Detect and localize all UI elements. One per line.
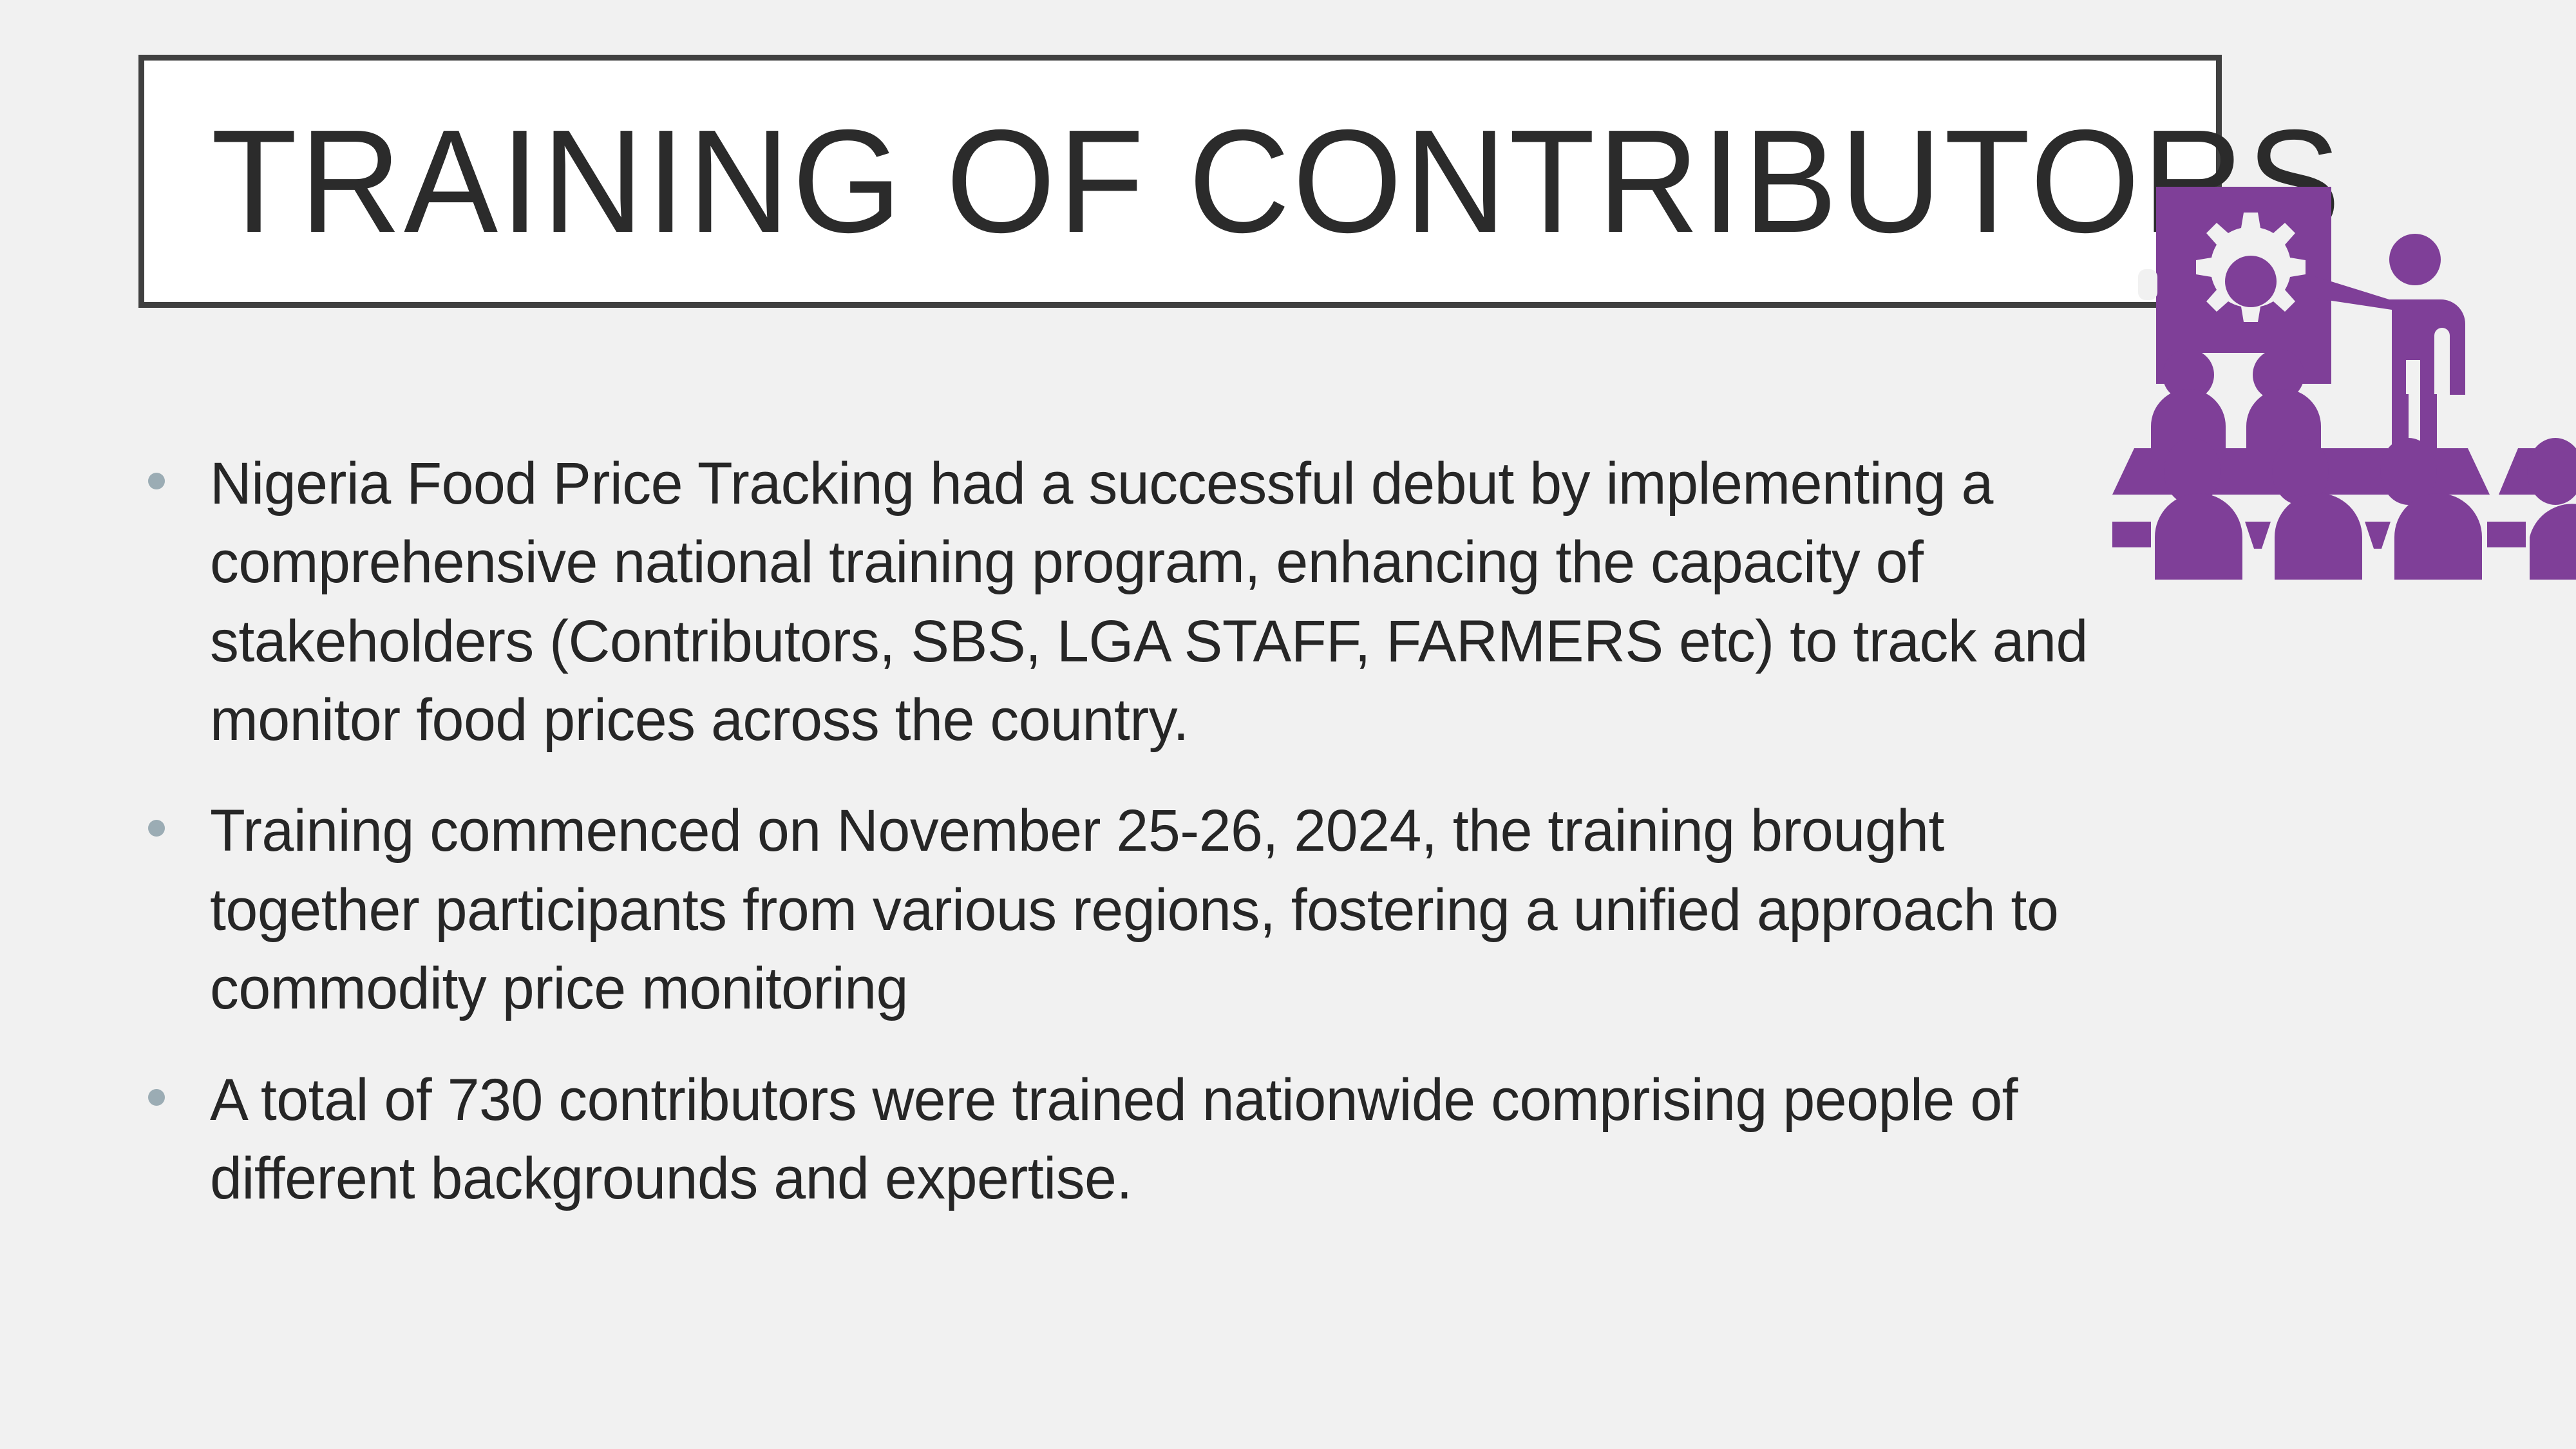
bullet-dot-icon	[148, 820, 165, 837]
bullet-dot-icon	[148, 1089, 165, 1106]
bullet-text: Training commenced on November 25-26, 20…	[210, 791, 2100, 1028]
bullet-text: A total of 730 contributors were trained…	[210, 1061, 2100, 1218]
bullet-dot-icon	[148, 473, 165, 489]
bullet-list: Nigeria Food Price Tracking had a succes…	[148, 444, 2209, 1250]
list-item: Training commenced on November 25-26, 20…	[148, 791, 2209, 1028]
slide-canvas: TRAINING OF CONTRIBUTORS	[0, 0, 2576, 1449]
title-box: TRAINING OF CONTRIBUTORS	[138, 55, 2222, 308]
page-title: TRAINING OF CONTRIBUTORS	[144, 61, 2133, 302]
list-item: Nigeria Food Price Tracking had a succes…	[148, 444, 2209, 759]
list-item: A total of 730 contributors were trained…	[148, 1061, 2209, 1218]
bullet-text: Nigeria Food Price Tracking had a succes…	[210, 444, 2100, 759]
